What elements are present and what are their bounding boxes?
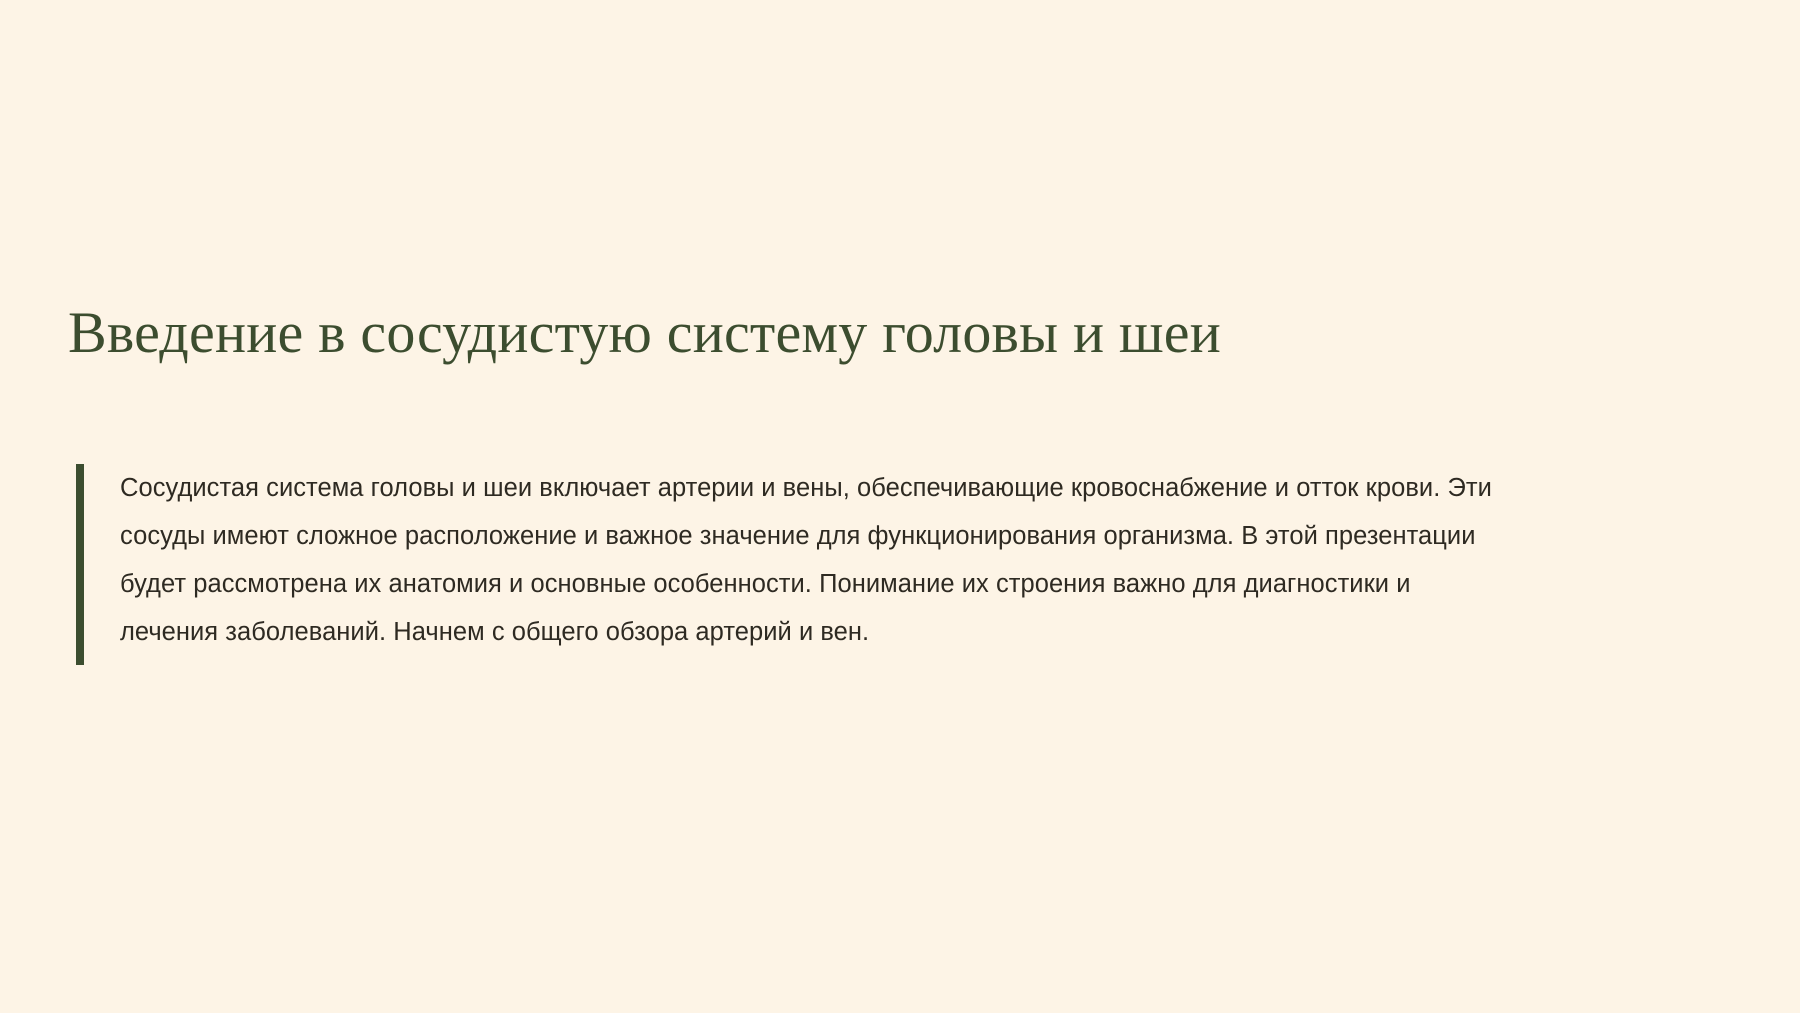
left-accent-bar xyxy=(76,464,84,665)
body-text-container: Сосудистая система головы и шеи включает… xyxy=(84,464,1496,665)
slide-title: Введение в сосудистую систему головы и ш… xyxy=(68,296,1728,370)
slide-body-paragraph: Сосудистая система головы и шеи включает… xyxy=(120,464,1496,656)
presentation-slide: Введение в сосудистую систему головы и ш… xyxy=(0,0,1800,1013)
body-callout: Сосудистая система головы и шеи включает… xyxy=(76,464,1496,665)
